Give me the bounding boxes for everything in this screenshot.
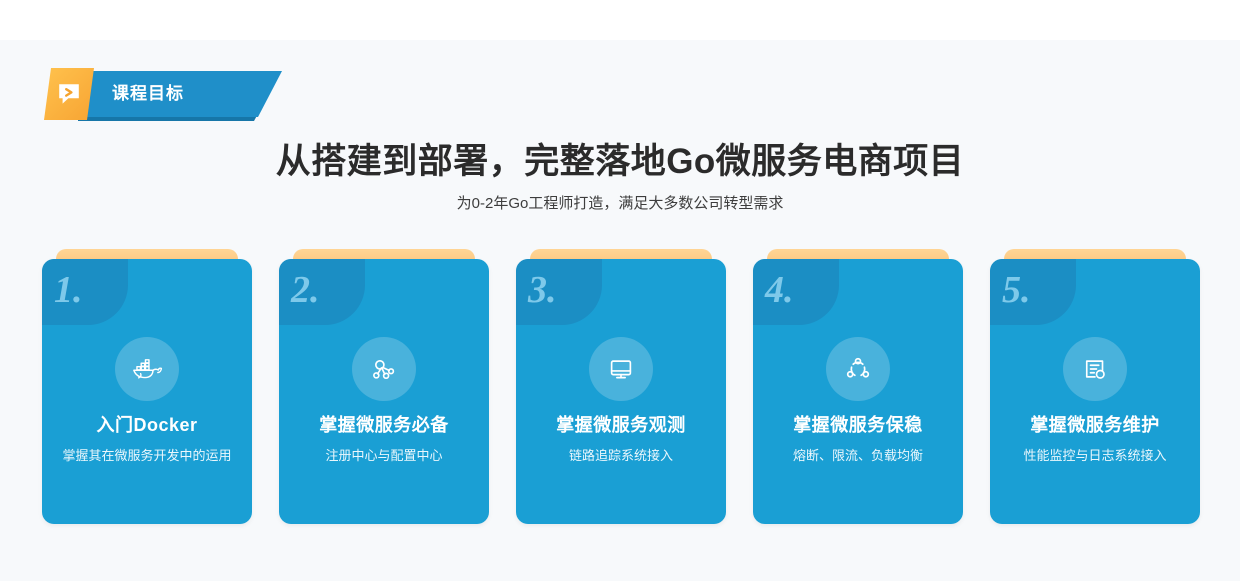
card-description: 掌握其在微服务开发中的运用 xyxy=(56,444,238,467)
top-white-strip xyxy=(0,0,1240,40)
badge-label: 课程目标 xyxy=(112,81,262,107)
card-description: 性能监控与日志系统接入 xyxy=(1004,444,1186,467)
card-title: 掌握微服务保稳 xyxy=(753,411,963,437)
card-title: 入门Docker xyxy=(42,411,252,437)
card-title: 掌握微服务观测 xyxy=(516,411,726,437)
card-description: 链路追踪系统接入 xyxy=(530,444,712,467)
card-description: 注册中心与配置中心 xyxy=(293,444,475,467)
card-title: 掌握微服务维护 xyxy=(990,411,1200,437)
monitor-icon xyxy=(589,337,653,401)
goal-card-4[interactable]: 4. 掌握微服务保稳 熔断、限流、负载均衡 xyxy=(753,249,963,524)
goal-card-1[interactable]: 1. xyxy=(42,249,252,524)
card-description: 熔断、限流、负载均衡 xyxy=(767,444,949,467)
page-subtitle: 为0-2年Go工程师打造，满足大多数公司转型需求 xyxy=(0,192,1240,213)
goal-card-5[interactable]: 5. 掌握微服务维护 性能监控与日志系统接入 xyxy=(990,249,1200,524)
share-nodes-icon xyxy=(826,337,890,401)
card-body: 2. 掌握微服务必备 注册 xyxy=(279,259,489,524)
docker-whale-icon xyxy=(115,337,179,401)
card-body: 1. xyxy=(42,259,252,524)
card-number: 2. xyxy=(291,265,320,315)
goal-card-3[interactable]: 3. 掌握微服务观测 链路追踪系统接入 xyxy=(516,249,726,524)
speech-bubble-chevron-icon xyxy=(56,81,82,107)
document-log-icon xyxy=(1063,337,1127,401)
card-number: 5. xyxy=(1002,265,1031,315)
card-body: 4. 掌握微服务保稳 熔断、限流、负载均衡 xyxy=(753,259,963,524)
goal-card-2[interactable]: 2. 掌握微服务必备 注册 xyxy=(279,249,489,524)
node-graph-icon xyxy=(352,337,416,401)
course-goals-section: 课程目标 从搭建到部署，完整落地Go微服务电商项目 为0-2年Go工程师打造，满… xyxy=(0,0,1240,581)
goal-cards-list: 1. xyxy=(42,249,1202,524)
card-title: 掌握微服务必备 xyxy=(279,411,489,437)
card-number: 4. xyxy=(765,265,794,315)
card-number: 3. xyxy=(528,265,557,315)
card-body: 3. 掌握微服务观测 链路追踪系统接入 xyxy=(516,259,726,524)
card-number: 1. xyxy=(54,265,83,315)
page-title: 从搭建到部署，完整落地Go微服务电商项目 xyxy=(0,133,1240,184)
card-body: 5. 掌握微服务维护 性能监控与日志系统接入 xyxy=(990,259,1200,524)
